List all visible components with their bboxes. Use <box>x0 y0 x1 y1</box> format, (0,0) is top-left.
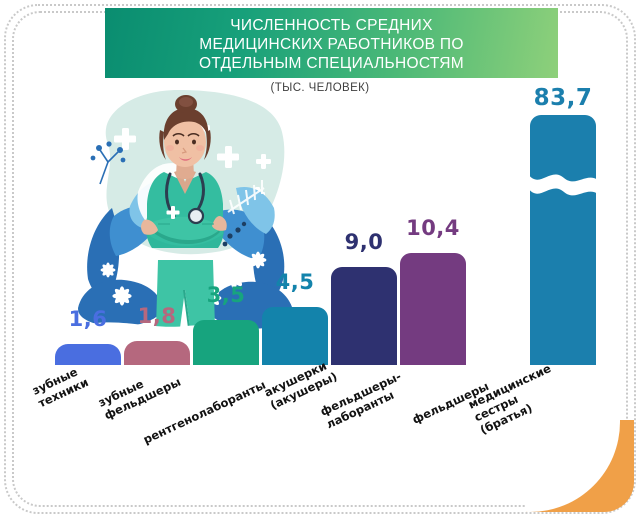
value-label-zubnye-feldshery: 1,8 <box>124 304 190 328</box>
category-label-zubnye-feldshery: зубные фельдшеры <box>96 362 183 422</box>
value-label-akusherki: 4,5 <box>262 270 328 294</box>
value-label-zubnye-tehniki: 1,6 <box>55 307 121 331</box>
bar-medicinskie-sestry <box>530 115 596 365</box>
bar-rentgenolaboranty <box>193 320 259 365</box>
bar-feldshery <box>400 253 466 365</box>
value-label-medicinskie-sestry: 83,7 <box>524 85 602 111</box>
bar-akusherki <box>262 307 328 365</box>
value-label-rentgenolaboranty: 3,5 <box>193 283 259 307</box>
value-label-feldshery-laboranty: 9,0 <box>331 230 397 254</box>
infographic-page: ЧИСЛЕННОСТЬ СРЕДНИХ МЕДИЦИНСКИХ РАБОТНИК… <box>0 0 640 518</box>
bar-zubnye-feldshery <box>124 341 190 365</box>
bar-chart: 1,6 1,8 3,5 4,5 9,0 10,4 83,7 зубные тех… <box>0 0 640 518</box>
category-label-zubnye-tehniki: зубные техники <box>30 362 91 410</box>
bar-zubnye-tehniki <box>55 344 121 365</box>
category-label-medicinskie-sestry: медицинские сестры (братья) <box>466 361 565 437</box>
bar-feldshery-laboranty <box>331 267 397 365</box>
value-label-feldshery: 10,4 <box>396 216 470 240</box>
